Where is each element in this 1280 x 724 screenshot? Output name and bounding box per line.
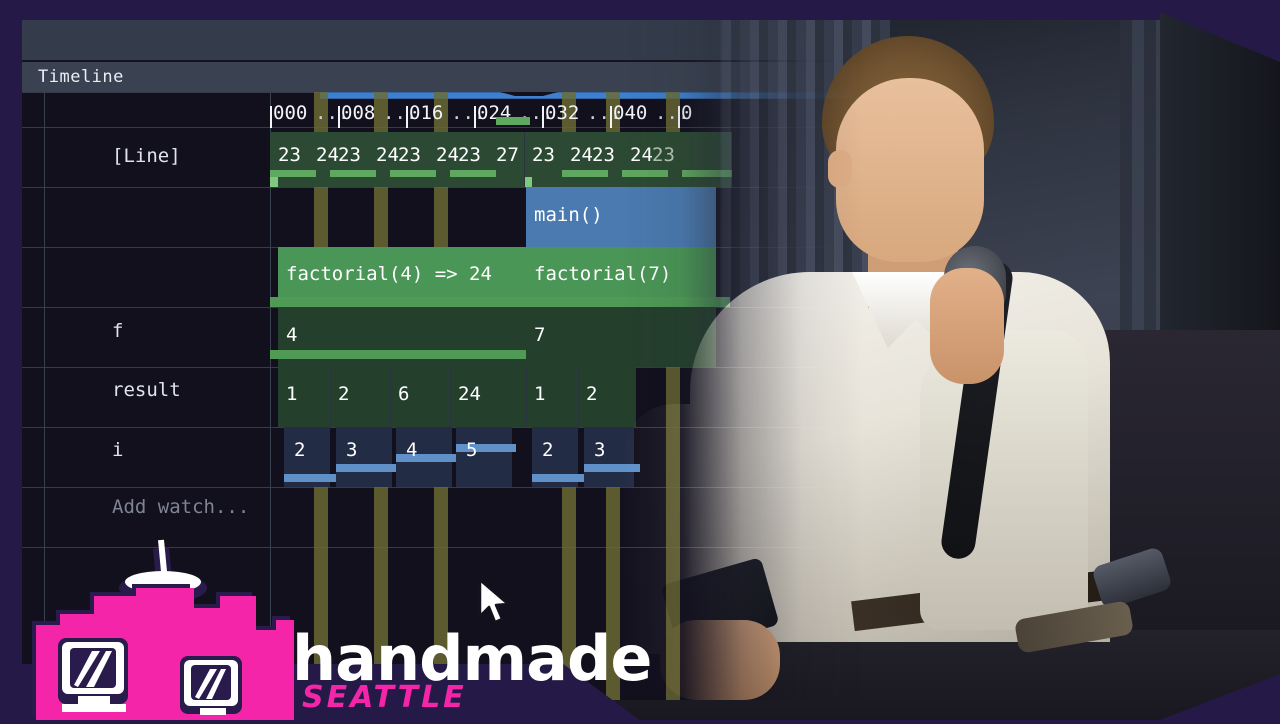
timeline-ruler: 000 ... 008 ... 016 ... 024 ... 032 ... …	[270, 102, 1182, 132]
variable-value-i: 3	[594, 439, 605, 461]
line-bar	[496, 117, 530, 125]
line-cell-value: 23	[278, 144, 301, 166]
variable-value-f: 4	[286, 324, 297, 346]
add-watch-button[interactable]: Add watch...	[112, 496, 249, 518]
variable-value-result: 2	[338, 383, 349, 405]
mouse-cursor	[478, 578, 512, 628]
variable-value-f: 7	[534, 324, 545, 346]
variable-cell-i[interactable]	[336, 427, 392, 487]
line-cell-value: 23	[458, 144, 481, 166]
callstack-label-factorial-7: factorial(7)	[534, 263, 671, 285]
ruler-tick-label: 032	[545, 102, 579, 124]
line-cell-value: 24	[376, 144, 399, 166]
variable-cell-i[interactable]	[584, 427, 634, 487]
variable-value-i: 3	[346, 439, 357, 461]
line-cell-value: 23	[398, 144, 421, 166]
ruler-tick-label: 016	[409, 102, 443, 124]
line-cell-value: 24	[436, 144, 459, 166]
variable-value-i: 4	[406, 439, 417, 461]
line-cell-value: 23	[532, 144, 555, 166]
line-bar	[450, 170, 496, 177]
ruler-tick-label: 0	[681, 102, 692, 124]
line-bar	[270, 170, 316, 177]
line-bar	[622, 170, 668, 177]
variable-value-result: 2	[586, 383, 597, 405]
ruler-tick-label: 008	[341, 102, 375, 124]
f-bar	[270, 297, 526, 307]
panel-title: Timeline	[38, 67, 124, 87]
f-bar-under	[270, 350, 526, 359]
i-bar	[456, 444, 516, 452]
frame-left	[0, 0, 22, 720]
variable-value-result: 1	[286, 383, 297, 405]
timeline-scrollbar-thumb[interactable]	[320, 93, 1182, 98]
toolbar[interactable]	[22, 20, 1182, 62]
row-label-line: [Line]	[112, 145, 181, 167]
variable-value-i: 5	[466, 439, 477, 461]
line-bar	[562, 170, 608, 177]
cell-separator	[524, 132, 525, 187]
line-bar	[330, 170, 376, 177]
variable-value-result: 1	[534, 383, 545, 405]
timeline-panel-header: Timeline	[22, 62, 1182, 92]
line-cell-value: 24	[316, 144, 339, 166]
ruler-tick-label: 040	[613, 102, 647, 124]
i-bar	[336, 464, 396, 472]
variable-value-i: 2	[542, 439, 553, 461]
line-cell-value: 23	[652, 144, 675, 166]
line-bar	[682, 170, 732, 177]
i-bar	[396, 454, 456, 462]
row-label-i: i	[112, 439, 123, 461]
row-label-result: result	[112, 379, 181, 401]
callstack-label-main: main()	[534, 204, 603, 226]
variable-value-result: 24	[458, 383, 481, 405]
i-bar	[284, 474, 336, 482]
line-cell-value: 23	[592, 144, 615, 166]
handmade-seattle-logo: handmade SEATTLE	[24, 530, 624, 720]
variable-value-result: 6	[398, 383, 409, 405]
variable-cell-i[interactable]	[456, 427, 512, 487]
line-bar-cap	[524, 177, 532, 187]
i-bar	[584, 464, 640, 472]
f-bar	[526, 297, 730, 307]
line-cell-value: 27	[496, 144, 519, 166]
i-bar	[532, 474, 584, 482]
line-cell-value: 24	[570, 144, 593, 166]
frame-top	[0, 0, 1160, 20]
variable-value-i: 2	[294, 439, 305, 461]
logo-subtitle: SEATTLE	[302, 680, 467, 715]
variable-cell-f[interactable]	[526, 307, 716, 367]
ruler-tick-label: 000	[273, 102, 307, 124]
callstack-label-factorial-4: factorial(4) => 24	[286, 263, 492, 285]
line-cell-value: 24	[630, 144, 653, 166]
row-label-f: f	[112, 320, 123, 342]
line-bar	[390, 170, 436, 177]
line-cell-value: 23	[338, 144, 361, 166]
line-bar-cap	[270, 177, 278, 187]
